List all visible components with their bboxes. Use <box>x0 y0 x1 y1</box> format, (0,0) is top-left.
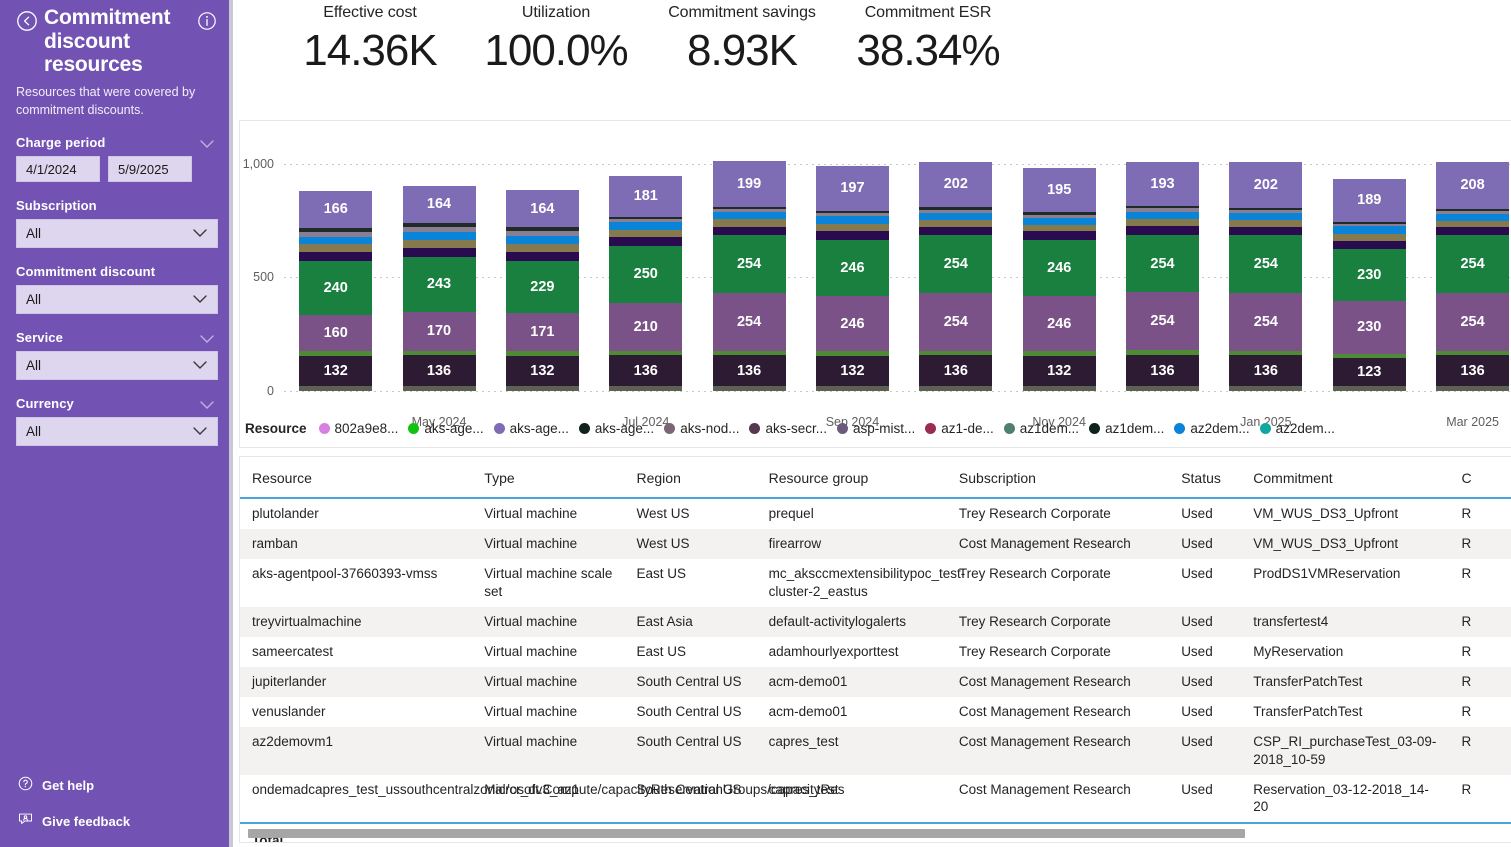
chevron-down-icon[interactable] <box>199 331 215 349</box>
sidebar-header: Commitment discount resources <box>16 0 217 77</box>
page-title: Commitment discount resources <box>44 6 197 77</box>
bar-segment-near-black[interactable] <box>816 211 889 213</box>
bar-segment-grey-base[interactable] <box>1229 386 1302 391</box>
chart-bar[interactable]: 136254254208 <box>1436 162 1509 391</box>
cell-commitment: TransferPatchTest <box>1241 667 1449 697</box>
filter-label-currency: Currency <box>16 396 217 411</box>
filter-commitment-discount: Commitment discount All <box>16 264 217 314</box>
cell-region: West US <box>624 498 756 529</box>
give-feedback-link[interactable]: Give feedback <box>16 803 216 839</box>
bar-segment-near-black[interactable] <box>1023 212 1096 214</box>
bar-segment-green-mid[interactable] <box>506 351 579 356</box>
question-circle-icon <box>18 776 33 794</box>
bar-segment-label: 254 <box>1436 256 1509 272</box>
bar-segment-indigo[interactable] <box>1436 227 1509 235</box>
legend-color-dot <box>408 423 419 434</box>
bar-segment-green-dark[interactable]: 229 <box>506 261 579 313</box>
bar-segment-indigo[interactable] <box>403 248 476 257</box>
kpi-label: Commitment ESR <box>835 4 1021 22</box>
column-header-subscription[interactable]: Subscription <box>947 457 1169 498</box>
legend-item[interactable]: az1-de... <box>925 421 994 436</box>
kpi-value: 100.0% <box>463 26 649 77</box>
bar-segment-olive[interactable] <box>1023 225 1096 232</box>
bar-segment-indigo[interactable] <box>713 227 786 236</box>
bar-segment-olive[interactable] <box>299 244 372 251</box>
commitment-discount-select-value: All <box>26 292 41 307</box>
currency-select-value: All <box>26 424 41 439</box>
filter-service: Service All <box>16 330 217 380</box>
column-header-status[interactable]: Status <box>1169 457 1241 498</box>
bar-segment-purple-mauve[interactable]: 160 <box>299 315 372 351</box>
table-row[interactable]: plutolanderVirtual machineWest USprequel… <box>240 498 1511 529</box>
table-header-row: ResourceTypeRegionResource groupSubscrip… <box>240 457 1511 498</box>
bar-segment-near-black[interactable] <box>609 217 682 220</box>
kpi-value: 38.34% <box>835 26 1021 77</box>
legend-item[interactable]: aks-age... <box>408 421 483 436</box>
bar-segment-green-mid[interactable] <box>1023 351 1096 356</box>
cell-type: Microsoft.Compute/capacityReservationGro… <box>472 775 624 824</box>
table-row[interactable]: venuslanderVirtual machineSouth Central … <box>240 697 1511 727</box>
chevron-down-icon <box>192 358 208 373</box>
bar-segment-label: 254 <box>919 256 992 272</box>
cell-type: Virtual machine <box>472 498 624 529</box>
legend-item-label: az1dem... <box>1020 421 1079 436</box>
bar-segment-grey-base[interactable] <box>713 386 786 391</box>
bar-segment-purple-mauve[interactable]: 254 <box>919 293 992 351</box>
bar-segment-green-mid[interactable] <box>1333 354 1406 359</box>
bar-segment-label: 170 <box>403 323 476 339</box>
bar-segment-blue[interactable] <box>713 212 786 219</box>
legend-item-label: az2dem... <box>1190 421 1249 436</box>
bar-segment-purple-mauve[interactable]: 254 <box>1126 292 1199 350</box>
bar-segment-purple-mauve[interactable]: 254 <box>1436 293 1509 351</box>
bar-segment-green-mid[interactable] <box>1229 351 1302 356</box>
chart-bar[interactable]: 123230230189 <box>1333 179 1406 391</box>
service-select[interactable]: All <box>16 351 218 380</box>
chart-bar[interactable]: 132160240166 <box>299 191 372 391</box>
bar-segment-label: 246 <box>816 260 889 276</box>
bar-segment-blue[interactable] <box>403 232 476 240</box>
cell-cut: R <box>1450 727 1511 775</box>
bar-segment-grey-base[interactable] <box>919 386 992 391</box>
cell-commitment: VM_WUS_DS3_Upfront <box>1241 498 1449 529</box>
chart-bar[interactable]: 132246246197 <box>816 166 889 391</box>
bar-segment-mauve-grey[interactable] <box>403 227 476 232</box>
bar-segment-near-black[interactable] <box>1333 222 1406 224</box>
bar-segment-mauve-grey[interactable] <box>1229 210 1302 213</box>
sidebar: Commitment discount resources Resources … <box>0 0 233 847</box>
bar-segment-purple-mauve[interactable]: 254 <box>713 293 786 351</box>
legend-item[interactable]: aks-secr... <box>749 421 827 436</box>
bar-segment-near-black[interactable] <box>1126 206 1199 208</box>
legend-color-dot <box>1260 423 1271 434</box>
chart-bar[interactable]: 136210250181 <box>609 176 682 391</box>
bar-segment-grey-base[interactable] <box>1333 386 1406 391</box>
bar-segment-label: 246 <box>1023 260 1096 276</box>
cell-type: Virtual machine scale set <box>472 559 624 607</box>
bar-segment-label: 136 <box>1126 363 1199 379</box>
bar-segment-dark-plum[interactable]: 136 <box>403 355 476 386</box>
bar-segment-green-mid[interactable] <box>609 351 682 356</box>
bar-segment-mauve-grey[interactable] <box>816 213 889 216</box>
bar-segment-green-dark[interactable]: 246 <box>816 240 889 296</box>
bar-segment-dark-plum[interactable]: 123 <box>1333 358 1406 386</box>
bar-segment-indigo[interactable] <box>1023 231 1096 239</box>
charge-period-end-input[interactable]: 5/9/2025 <box>108 156 192 182</box>
y-axis-tick: 0 <box>267 384 274 398</box>
legend-color-dot <box>1174 423 1185 434</box>
bar-segment-label: 193 <box>1126 176 1199 192</box>
bar-segment-mauve-grey[interactable] <box>1126 208 1199 211</box>
bar-segment-grey-base[interactable] <box>816 386 889 391</box>
bar-segment-olive[interactable] <box>816 224 889 231</box>
bar-segment-near-black[interactable] <box>919 207 992 209</box>
bar-segment-label: 136 <box>609 363 682 379</box>
filter-label-subscription: Subscription <box>16 198 217 213</box>
bar-segment-indigo[interactable] <box>299 252 372 261</box>
table-row[interactable]: jupiterlanderVirtual machineSouth Centra… <box>240 667 1511 697</box>
bar-segment-blue[interactable] <box>1436 214 1509 221</box>
bar-segment-lavender[interactable]: 181 <box>609 176 682 217</box>
bar-segment-lavender[interactable]: 199 <box>713 161 786 206</box>
bar-segment-mauve-grey[interactable] <box>609 219 682 222</box>
bar-segment-green-mid[interactable] <box>713 351 786 356</box>
bar-segment-dark-plum[interactable]: 136 <box>1126 355 1199 386</box>
bar-segment-indigo[interactable] <box>1126 226 1199 235</box>
table-row[interactable]: aks-agentpool-37660393-vmssVirtual machi… <box>240 559 1511 607</box>
cell-type: Virtual machine <box>472 529 624 559</box>
cell-status: Used <box>1169 727 1241 775</box>
bar-segment-olive[interactable] <box>919 220 992 227</box>
column-header-cut[interactable]: C <box>1450 457 1511 498</box>
bar-segment-green-dark[interactable]: 240 <box>299 261 372 316</box>
bar-segment-grey-base[interactable] <box>299 386 372 391</box>
cell-resource: sameercatest <box>240 637 472 667</box>
bar-segment-lavender[interactable]: 164 <box>403 186 476 223</box>
legend-item[interactable]: aks-age... <box>579 421 654 436</box>
bar-segment-blue[interactable] <box>1229 213 1302 220</box>
bar-segment-grey-base[interactable] <box>1436 386 1509 391</box>
bar-segment-label: 164 <box>403 196 476 212</box>
cell-type: Virtual machine <box>472 667 624 697</box>
chart-bar[interactable]: 136170243164 <box>403 186 476 391</box>
bar-segment-label: 132 <box>299 363 372 379</box>
bar-segment-label: 229 <box>506 279 579 295</box>
bar-segment-blue[interactable] <box>1023 218 1096 225</box>
bar-segment-grey-base[interactable] <box>1126 386 1199 391</box>
bar-segment-mauve-grey[interactable] <box>919 210 992 213</box>
main-content: Effective cost14.36KUtilization100.0%Com… <box>233 0 1511 847</box>
bar-segment-green-dark[interactable]: 254 <box>919 235 992 293</box>
cell-region: South Central US <box>624 697 756 727</box>
bar-segment-purple-mauve[interactable]: 170 <box>403 312 476 351</box>
chart-bar[interactable]: 136254254199 <box>713 161 786 391</box>
charge-period-start-input[interactable]: 4/1/2024 <box>16 156 100 182</box>
bar-segment-blue[interactable] <box>816 216 889 224</box>
bar-segment-olive[interactable] <box>609 230 682 238</box>
bar-segment-label: 160 <box>299 325 372 341</box>
cell-cut: R <box>1450 637 1511 667</box>
cell-cut: R <box>1450 529 1511 559</box>
bar-segment-green-mid[interactable] <box>1436 351 1509 356</box>
bar-segment-mauve-grey[interactable] <box>1436 211 1509 214</box>
bar-segment-olive[interactable] <box>506 244 579 252</box>
bar-segment-lavender[interactable]: 202 <box>919 162 992 208</box>
bar-segment-olive[interactable] <box>713 219 786 226</box>
bar-segment-green-mid[interactable] <box>299 351 372 356</box>
cell-group: adamhourlyexporttest <box>757 637 947 667</box>
legend-item-label: aks-nod... <box>680 421 739 436</box>
cell-commitment: CSP_RI_purchaseTest_03-09-2018_10-59 <box>1241 727 1449 775</box>
info-circle-icon[interactable] <box>197 11 217 31</box>
cell-status: Used <box>1169 667 1241 697</box>
chevron-down-icon[interactable] <box>199 136 215 154</box>
bar-segment-green-dark[interactable]: 254 <box>1126 235 1199 293</box>
bar-segment-dark-plum[interactable]: 132 <box>1023 356 1096 386</box>
table-row[interactable]: az2demovm1Virtual machineSouth Central U… <box>240 727 1511 775</box>
bar-segment-blue[interactable] <box>919 213 992 220</box>
cell-type: Virtual machine <box>472 697 624 727</box>
table-row[interactable]: sameercatestVirtual machineEast USadamho… <box>240 637 1511 667</box>
cell-region: West US <box>624 529 756 559</box>
filter-label-charge-period: Charge period <box>16 135 217 150</box>
bar-segment-label: 254 <box>1126 313 1199 329</box>
bar-segment-near-black[interactable] <box>506 227 579 231</box>
bar-segment-olive[interactable] <box>1436 221 1509 227</box>
bar-segment-label: 136 <box>919 363 992 379</box>
bar-segment-grey-base[interactable] <box>1023 386 1096 391</box>
legend-item[interactable]: az1dem... <box>1089 421 1164 436</box>
cell-group: prequel <box>757 498 947 529</box>
bar-segment-mauve-grey[interactable] <box>299 232 372 237</box>
get-help-link[interactable]: Get help <box>16 767 216 803</box>
bar-segment-label: 208 <box>1436 177 1509 193</box>
legend-color-dot <box>664 423 675 434</box>
cell-resource: treyvirtualmachine <box>240 607 472 637</box>
cell-resource: jupiterlander <box>240 667 472 697</box>
chart-bar[interactable]: 136254254193 <box>1126 162 1199 391</box>
back-arrow-circle-icon[interactable] <box>16 10 38 32</box>
cell-type: Virtual machine <box>472 637 624 667</box>
gridline <box>284 391 1511 392</box>
resources-table: ResourceTypeRegionResource groupSubscrip… <box>240 457 1511 843</box>
bar-segment-indigo[interactable] <box>1333 241 1406 249</box>
bar-segment-dark-plum[interactable]: 136 <box>1436 355 1509 386</box>
legend-items: 802a9e8...aks-age...aks-age...aks-age...… <box>319 421 1345 436</box>
commitment-usage-chart-card: 05001,000 132160240166136170243164132171… <box>239 120 1511 448</box>
legend-color-dot <box>925 423 936 434</box>
cell-subscription: Cost Management Research <box>947 697 1169 727</box>
bar-segment-grey-base[interactable] <box>609 386 682 391</box>
bar-segment-olive[interactable] <box>1229 220 1302 227</box>
chart-bar[interactable]: 132171229164 <box>506 190 579 391</box>
cell-status: Used <box>1169 775 1241 824</box>
column-header-type[interactable]: Type <box>472 457 624 498</box>
bar-segment-label: 132 <box>816 363 889 379</box>
legend-item[interactable]: aks-nod... <box>664 421 739 436</box>
legend-item[interactable]: az1dem... <box>1004 421 1079 436</box>
bar-segment-label: 230 <box>1333 267 1406 283</box>
commitment-discount-select[interactable]: All <box>16 285 218 314</box>
cell-cut: R <box>1450 775 1511 824</box>
bar-segment-indigo[interactable] <box>919 227 992 235</box>
cell-cut: R <box>1450 559 1511 607</box>
legend-item[interactable]: az2dem... <box>1260 421 1335 436</box>
bar-segment-near-black[interactable] <box>1436 209 1509 211</box>
bar-segment-lavender[interactable]: 197 <box>816 166 889 211</box>
bar-segment-green-mid[interactable] <box>1126 350 1199 355</box>
bar-segment-grey-base[interactable] <box>403 386 476 391</box>
bar-segment-green-dark[interactable]: 246 <box>1023 240 1096 296</box>
bar-segment-lavender[interactable]: 166 <box>299 191 372 229</box>
bar-segment-dark-plum[interactable]: 136 <box>919 355 992 386</box>
service-select-value: All <box>26 358 41 373</box>
bar-segment-purple-mauve[interactable]: 210 <box>609 303 682 351</box>
bar-segment-green-dark[interactable]: 250 <box>609 246 682 303</box>
legend-item[interactable]: 802a9e8... <box>319 421 399 436</box>
bar-segment-mauve-grey[interactable] <box>1333 224 1406 227</box>
kpi-label: Commitment savings <box>649 4 835 22</box>
legend-item[interactable]: asp-mist... <box>837 421 915 436</box>
bar-segment-dark-plum[interactable]: 132 <box>299 356 372 386</box>
bar-segment-purple-mauve[interactable]: 254 <box>1229 293 1302 351</box>
bar-segment-green-dark[interactable]: 254 <box>1436 235 1509 293</box>
bar-segment-indigo[interactable] <box>506 252 579 261</box>
currency-select[interactable]: All <box>16 417 218 446</box>
cell-region: South Central US <box>624 667 756 697</box>
bar-segment-green-mid[interactable] <box>919 351 992 356</box>
bar-segment-olive[interactable] <box>1126 219 1199 226</box>
bar-segment-near-black[interactable] <box>299 228 372 231</box>
legend-item[interactable]: az2dem... <box>1174 421 1249 436</box>
bar-segment-label: 195 <box>1023 182 1096 198</box>
table-h-scroll-thumb[interactable] <box>248 829 1245 838</box>
bar-segment-near-black[interactable] <box>713 207 786 209</box>
cell-group: acm-demo01 <box>757 697 947 727</box>
bar-segment-blue[interactable] <box>299 237 372 245</box>
kpi-label: Effective cost <box>277 4 463 22</box>
bar-segment-label: 254 <box>1229 256 1302 272</box>
cell-commitment: MyReservation <box>1241 637 1449 667</box>
legend-item-label: az1-de... <box>941 421 994 436</box>
cell-cut: R <box>1450 498 1511 529</box>
cell-status: Used <box>1169 637 1241 667</box>
bar-segment-label: 246 <box>1023 316 1096 332</box>
kpi-card-3: Commitment savings8.93K <box>649 4 835 116</box>
chevron-down-icon <box>192 424 208 439</box>
filter-label-service: Service <box>16 330 217 345</box>
bar-segment-dark-plum[interactable]: 132 <box>506 356 579 386</box>
bar-segment-near-black[interactable] <box>1229 208 1302 210</box>
bar-segment-green-dark[interactable]: 254 <box>1229 235 1302 293</box>
table-row[interactable]: rambanVirtual machineWest USfirearrowCos… <box>240 529 1511 559</box>
bar-segment-green-mid[interactable] <box>403 351 476 356</box>
cell-commitment: VM_WUS_DS3_Upfront <box>1241 529 1449 559</box>
bar-segment-blue[interactable] <box>609 222 682 230</box>
legend-item[interactable]: aks-age... <box>494 421 569 436</box>
bar-segment-dark-plum[interactable]: 136 <box>609 355 682 386</box>
bar-segment-label: 202 <box>919 176 992 192</box>
chart-bar[interactable]: 136254254202 <box>919 162 992 391</box>
cell-commitment: ProdDS1VMReservation <box>1241 559 1449 607</box>
bar-segment-blue[interactable] <box>1126 212 1199 219</box>
bar-segment-green-mid[interactable] <box>816 351 889 356</box>
bar-segment-lavender[interactable]: 208 <box>1436 162 1509 209</box>
bar-segment-olive[interactable] <box>1333 234 1406 241</box>
table-row[interactable]: ondemadcapres_test_ussouthcentralzonal/c… <box>240 775 1511 824</box>
bar-segment-lavender[interactable]: 195 <box>1023 168 1096 212</box>
bar-segment-mauve-grey[interactable] <box>506 231 579 236</box>
bar-segment-lavender[interactable]: 164 <box>506 190 579 227</box>
bar-segment-green-dark[interactable]: 254 <box>713 235 786 293</box>
bar-segment-lavender[interactable]: 189 <box>1333 179 1406 222</box>
bar-segment-olive[interactable] <box>403 240 476 248</box>
column-header-group[interactable]: Resource group <box>757 457 947 498</box>
bar-segment-mauve-grey[interactable] <box>713 209 786 212</box>
filter-label-commitment-discount: Commitment discount <box>16 264 217 279</box>
column-header-region[interactable]: Region <box>624 457 756 498</box>
cell-subscription: Trey Research Corporate <box>947 607 1169 637</box>
cell-group: capres_test <box>757 727 947 775</box>
bar-segment-label: 181 <box>609 188 682 204</box>
bar-segment-indigo[interactable] <box>1229 227 1302 235</box>
chart-bar[interactable]: 132246246195 <box>1023 168 1096 391</box>
bar-segment-indigo[interactable] <box>609 237 682 246</box>
bar-segment-dark-plum[interactable]: 132 <box>816 356 889 386</box>
column-header-resource[interactable]: Resource <box>240 457 472 498</box>
bar-segment-dark-plum[interactable]: 136 <box>713 355 786 386</box>
cell-subscription: Cost Management Research <box>947 667 1169 697</box>
cell-cut: R <box>1450 667 1511 697</box>
bar-segment-purple-mauve[interactable]: 230 <box>1333 301 1406 353</box>
column-header-commitment[interactable]: Commitment <box>1241 457 1449 498</box>
charge-period-inputs: 4/1/2024 5/9/2025 <box>16 156 217 182</box>
kpi-value: 14.36K <box>277 26 463 77</box>
legend-item-label: aks-age... <box>424 421 483 436</box>
legend-item-label: 802a9e8... <box>335 421 399 436</box>
kpi-value: 8.93K <box>649 26 835 77</box>
legend-item-label: aks-age... <box>595 421 654 436</box>
cell-status: Used <box>1169 607 1241 637</box>
bar-segment-green-dark[interactable]: 230 <box>1333 249 1406 301</box>
subscription-select[interactable]: All <box>16 219 218 248</box>
cell-type: Virtual machine <box>472 607 624 637</box>
bar-segment-purple-mauve[interactable]: 246 <box>816 296 889 352</box>
bar-segment-blue[interactable] <box>506 236 579 244</box>
bar-segment-dark-plum[interactable]: 136 <box>1229 355 1302 386</box>
bar-segment-grey-base[interactable] <box>506 386 579 391</box>
bar-segment-lavender[interactable]: 202 <box>1229 162 1302 208</box>
bar-segment-near-black[interactable] <box>403 223 476 227</box>
table-row[interactable]: treyvirtualmachineVirtual machineEast As… <box>240 607 1511 637</box>
chart-bar[interactable]: 136254254202 <box>1229 162 1302 391</box>
bar-segment-label: 246 <box>816 316 889 332</box>
bar-segment-label: 136 <box>1229 363 1302 379</box>
chevron-down-icon[interactable] <box>199 397 215 415</box>
legend-item-label: aks-age... <box>510 421 569 436</box>
bar-segment-green-dark[interactable]: 243 <box>403 257 476 312</box>
kpi-card-1: Effective cost14.36K <box>277 4 463 116</box>
bar-segment-purple-mauve[interactable]: 171 <box>506 313 579 352</box>
bar-segment-blue[interactable] <box>1333 226 1406 233</box>
bar-segment-label: 240 <box>299 280 372 296</box>
bar-segment-label: 166 <box>299 201 372 217</box>
bar-segment-indigo[interactable] <box>816 231 889 240</box>
table-horizontal-scrollbar[interactable] <box>248 829 1511 838</box>
bar-segment-mauve-grey[interactable] <box>1023 215 1096 218</box>
bar-segment-lavender[interactable]: 193 <box>1126 162 1199 206</box>
bar-segment-purple-mauve[interactable]: 246 <box>1023 296 1096 352</box>
